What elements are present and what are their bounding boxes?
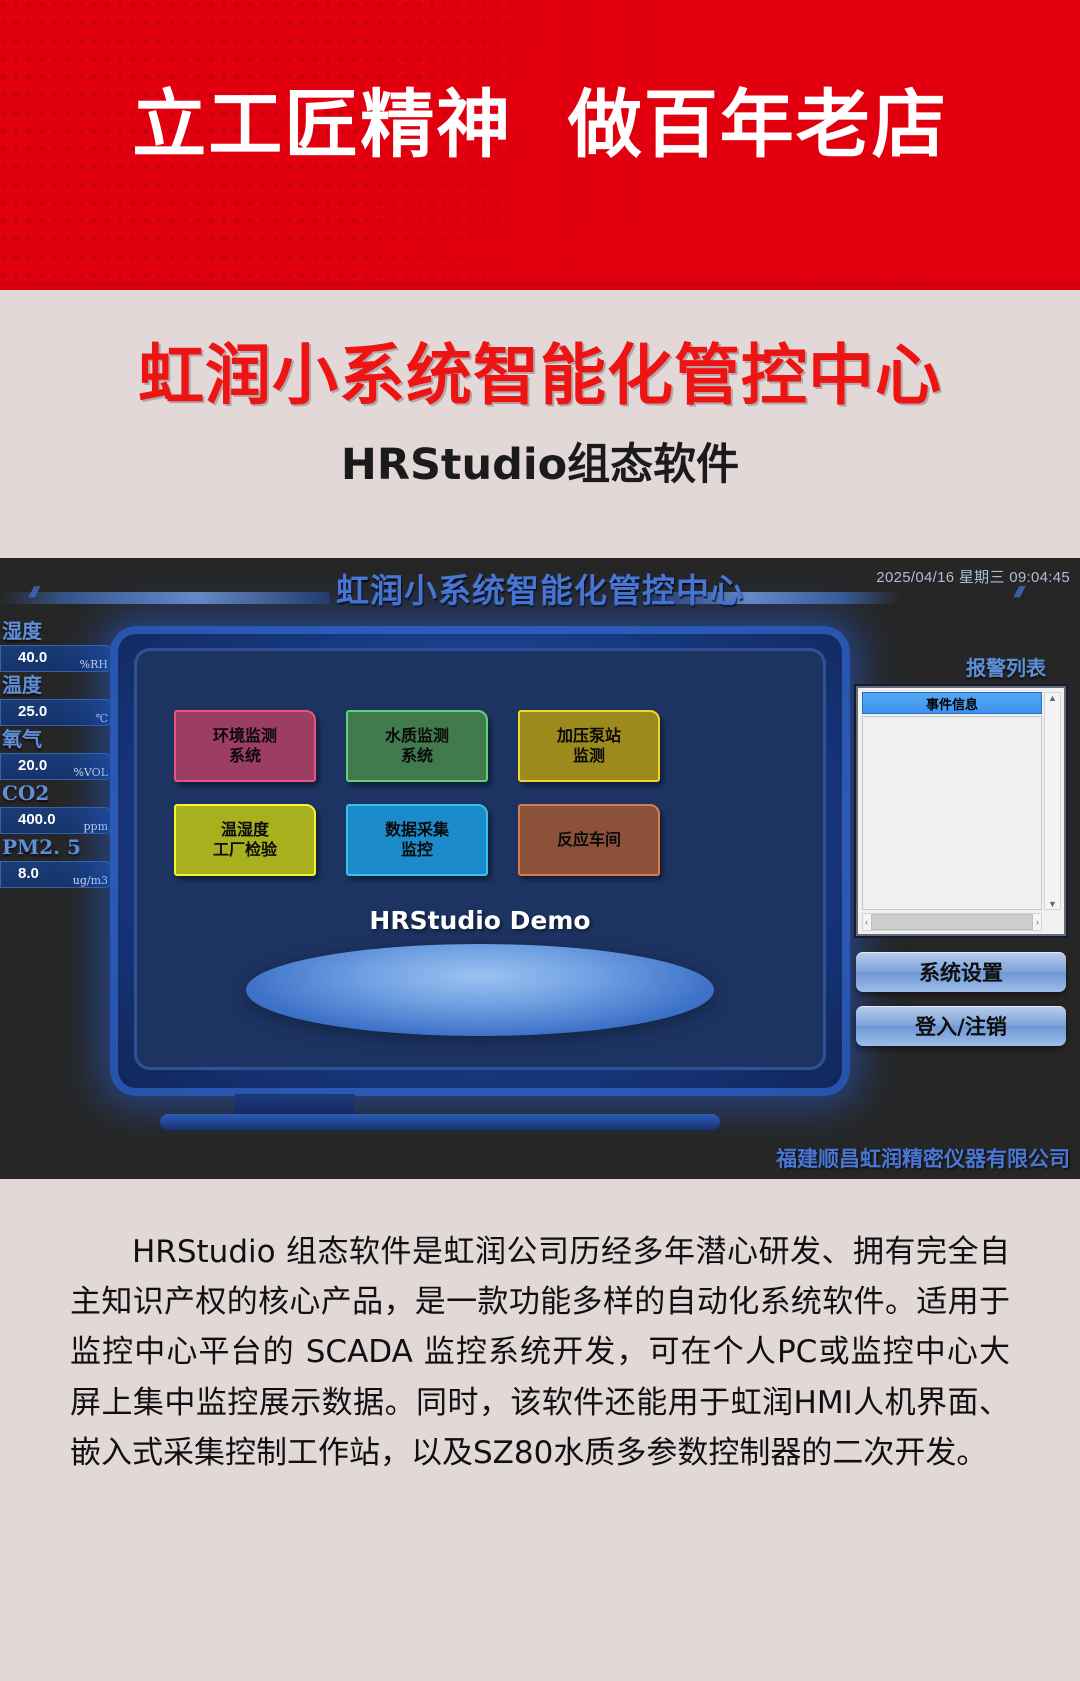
sensor-item: PM2. 58.0ug/m3 [0, 836, 112, 888]
sensor-value: 400.0 [18, 811, 56, 828]
page-title: 虹润小系统智能化管控中心 [0, 322, 1080, 418]
sensor-value-box[interactable]: 25.0℃ [0, 699, 112, 726]
description-section: HRStudio 组态软件是虹润公司历经多年潜心研发、拥有完全自主知识产权的核心… [0, 1179, 1080, 1681]
app-button-grid: 环境监测 系统水质监测 系统加压泵站 监测温湿度 工厂检验数据采集 监控反应车间 [174, 710, 660, 876]
sensor-label: 氧气 [0, 728, 112, 751]
sensor-value-box[interactable]: 20.0%VOL [0, 753, 112, 780]
sensor-value: 8.0 [18, 865, 39, 882]
sensor-item: 温度25.0℃ [0, 674, 112, 726]
title-block: 虹润小系统智能化管控中心 HRStudio组态软件 [0, 290, 1080, 558]
sensor-item: 氧气20.0%VOL [0, 728, 112, 780]
sensor-value: 25.0 [18, 703, 47, 720]
demo-label: HRStudio Demo [134, 906, 826, 935]
app-button[interactable]: 温湿度 工厂检验 [174, 804, 316, 876]
banner-slogan: 立工匠精神 做百年老店 [0, 88, 1080, 162]
chevron-right-icon[interactable]: › [1036, 917, 1039, 927]
sensor-value-box[interactable]: 8.0ug/m3 [0, 861, 112, 888]
decorative-ellipse [246, 944, 714, 1036]
alarm-vertical-scrollbar[interactable]: ▲ ▼ [1044, 692, 1061, 910]
hscroll-thumb[interactable] [871, 914, 1033, 930]
app-button[interactable]: 数据采集 监控 [346, 804, 488, 876]
alarm-list-body[interactable] [862, 716, 1042, 910]
hmi-datetime: 2025/04/16 星期三 09:04:45 [876, 566, 1070, 587]
sensor-label: PM2. 5 [0, 836, 112, 859]
login-logout-button[interactable]: 登入/注销 [856, 1006, 1066, 1046]
alarm-column-header: 事件信息 [862, 692, 1042, 714]
sensor-item: CO2400.0ppm [0, 782, 112, 834]
alarm-list-panel: 事件信息 ▲ ▼ ‹ › [856, 686, 1066, 936]
app-button[interactable]: 反应车间 [518, 804, 660, 876]
sensor-unit: %VOL [73, 766, 108, 779]
sensor-value: 40.0 [18, 649, 47, 666]
description-paragraph: HRStudio 组态软件是虹润公司历经多年潜心研发、拥有完全自主知识产权的核心… [70, 1227, 1010, 1478]
system-settings-button[interactable]: 系统设置 [856, 952, 1066, 992]
sensor-unit: ug/m3 [73, 874, 108, 887]
page-subtitle: HRStudio组态软件 [0, 430, 1080, 492]
sensor-value-box[interactable]: 400.0ppm [0, 807, 112, 834]
monitor-base [160, 1114, 720, 1130]
poster-page: 立工匠精神 做百年老店 虹润小系统智能化管控中心 HRStudio组态软件 //… [0, 0, 1080, 1681]
sensor-label: 温度 [0, 674, 112, 697]
alarm-horizontal-scrollbar[interactable]: ‹ › [862, 913, 1042, 931]
alarm-list-title: 报警列表 [966, 652, 1046, 681]
sensor-value: 20.0 [18, 757, 47, 774]
sensor-unit: ℃ [96, 712, 108, 725]
app-button[interactable]: 加压泵站 监测 [518, 710, 660, 782]
sensor-unit: %RH [80, 658, 108, 671]
sensor-label: CO2 [0, 782, 112, 805]
chevron-left-icon[interactable]: ‹ [865, 917, 868, 927]
app-button[interactable]: 环境监测 系统 [174, 710, 316, 782]
banner-bottom-edge [0, 282, 1080, 290]
sensor-label: 湿度 [0, 620, 112, 643]
hmi-screenshot: /// /// 虹润小系统智能化管控中心 2025/04/16 星期三 09:0… [0, 558, 1080, 1179]
sensor-unit: ppm [83, 820, 108, 833]
chevron-down-icon[interactable]: ▼ [1048, 899, 1057, 909]
app-button[interactable]: 水质监测 系统 [346, 710, 488, 782]
monitor-screen: 环境监测 系统水质监测 系统加压泵站 监测温湿度 工厂检验数据采集 监控反应车间… [134, 648, 826, 1070]
sensor-item: 湿度40.0%RH [0, 620, 112, 672]
sensor-rail: 湿度40.0%RH温度25.0℃氧气20.0%VOLCO2400.0ppmPM2… [0, 620, 112, 890]
hmi-company-footer: 福建顺昌虹润精密仪器有限公司 [776, 1143, 1070, 1173]
monitor-graphic: 环境监测 系统水质监测 系统加压泵站 监测温湿度 工厂检验数据采集 监控反应车间… [110, 626, 850, 1096]
slogan-banner: 立工匠精神 做百年老店 [0, 0, 1080, 290]
chevron-up-icon[interactable]: ▲ [1048, 693, 1057, 703]
sensor-value-box[interactable]: 40.0%RH [0, 645, 112, 672]
